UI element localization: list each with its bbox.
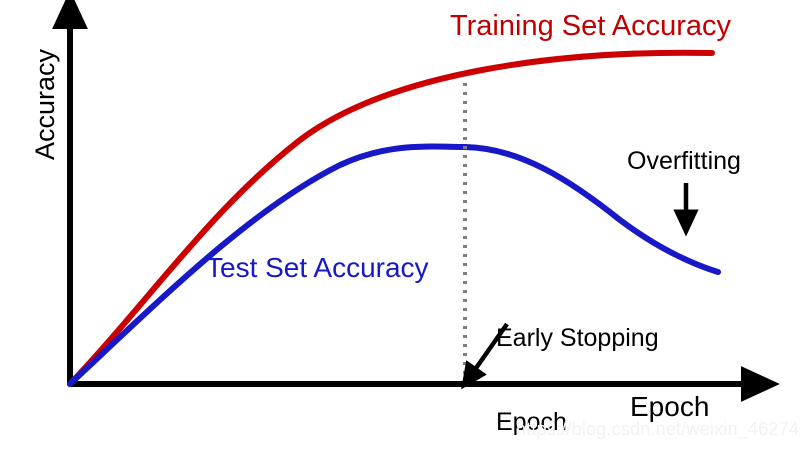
watermark-text: https://blog.csdn.net/weixin_46274168	[516, 419, 800, 439]
chart-plot	[0, 0, 800, 450]
test-series-label: Test Set Accuracy	[206, 252, 429, 283]
early-stopping-annotation-line1: Early Stopping	[496, 324, 659, 352]
training-series-label: Training Set Accuracy	[450, 10, 731, 42]
overfitting-annotation-label: Overfitting	[627, 147, 741, 175]
chart-canvas: Accuracy Epoch Training Set Accuracy Tes…	[0, 0, 800, 450]
y-axis-title-text: Accuracy	[30, 0, 60, 160]
